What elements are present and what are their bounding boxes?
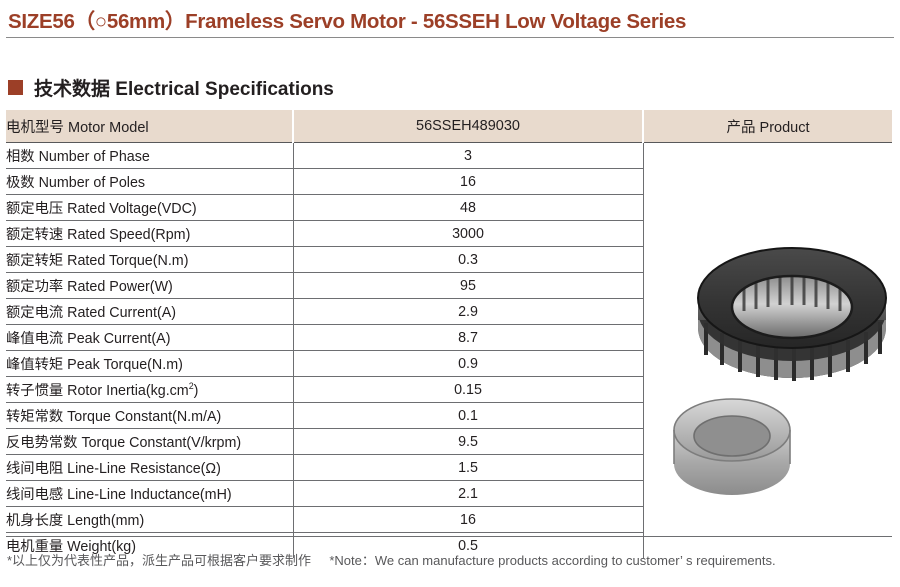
spec-label: 反电势常数 Torque Constant(V/krpm) xyxy=(6,429,293,455)
spec-label: 额定电流 Rated Current(A) xyxy=(6,299,293,325)
table-bottom-divider xyxy=(6,536,892,537)
spec-value: 16 xyxy=(293,507,643,533)
spec-label: 线间电阻 Line-Line Resistance(Ω) xyxy=(6,455,293,481)
spec-label: 峰值转矩 Peak Torque(N.m) xyxy=(6,351,293,377)
spec-value: 3 xyxy=(293,143,643,169)
spec-value: 95 xyxy=(293,273,643,299)
spec-label: 极数 Number of Poles xyxy=(6,169,293,195)
electrical-specifications-table: 电机型号 Motor Model 56SSEH489030 产品 Product… xyxy=(6,110,892,558)
spec-label: 相数 Number of Phase xyxy=(6,143,293,169)
spec-value: 1.5 xyxy=(293,455,643,481)
spec-value: 9.5 xyxy=(293,429,643,455)
spec-label: 额定电压 Rated Voltage(VDC) xyxy=(6,195,293,221)
spec-label: 峰值电流 Peak Current(A) xyxy=(6,325,293,351)
title-divider xyxy=(6,37,894,38)
spec-value: 0.9 xyxy=(293,351,643,377)
spec-value: 2.1 xyxy=(293,481,643,507)
spec-label: 线间电感 Line-Line Inductance(mH) xyxy=(6,481,293,507)
spec-label: 转矩常数 Torque Constant(N.m/A) xyxy=(6,403,293,429)
square-bullet-icon xyxy=(8,80,23,95)
section-header: 技术数据 Electrical Specifications xyxy=(8,74,334,101)
spec-value: 0.3 xyxy=(293,247,643,273)
spec-value: 0.1 xyxy=(293,403,643,429)
spec-value: 16 xyxy=(293,169,643,195)
page-title: SIZE56（○56mm）Frameless Servo Motor - 56S… xyxy=(8,4,892,34)
spec-value: 2.9 xyxy=(293,299,643,325)
spec-value: 8.7 xyxy=(293,325,643,351)
column-header-model-number: 56SSEH489030 xyxy=(293,110,643,143)
table-header-row: 电机型号 Motor Model 56SSEH489030 产品 Product xyxy=(6,110,892,143)
spec-value: 48 xyxy=(293,195,643,221)
spec-value: 3000 xyxy=(293,221,643,247)
spec-label: 额定转速 Rated Speed(Rpm) xyxy=(6,221,293,247)
spec-label: 转子惯量 Rotor Inertia(kg.cm2) xyxy=(6,377,293,403)
spec-label: 机身长度 Length(mm) xyxy=(6,507,293,533)
footer-note-en: *Note：We can manufacture products accord… xyxy=(329,553,775,568)
spec-label: 额定转矩 Rated Torque(N.m) xyxy=(6,247,293,273)
footer-note-cn: *以上仅为代表性产品，派生产品可根据客户要求制作 xyxy=(7,553,311,568)
table-row: 相数 Number of Phase3 xyxy=(6,143,892,169)
spec-label: 额定功率 Rated Power(W) xyxy=(6,273,293,299)
spec-value: 0.15 xyxy=(293,377,643,403)
footer-note: *以上仅为代表性产品，派生产品可根据客户要求制作 *Note：We can ma… xyxy=(7,550,776,569)
column-header-motor-model: 电机型号 Motor Model xyxy=(6,110,293,143)
column-header-product: 产品 Product xyxy=(643,110,892,143)
section-title: 技术数据 Electrical Specifications xyxy=(34,74,334,101)
product-image-cell xyxy=(643,143,892,559)
